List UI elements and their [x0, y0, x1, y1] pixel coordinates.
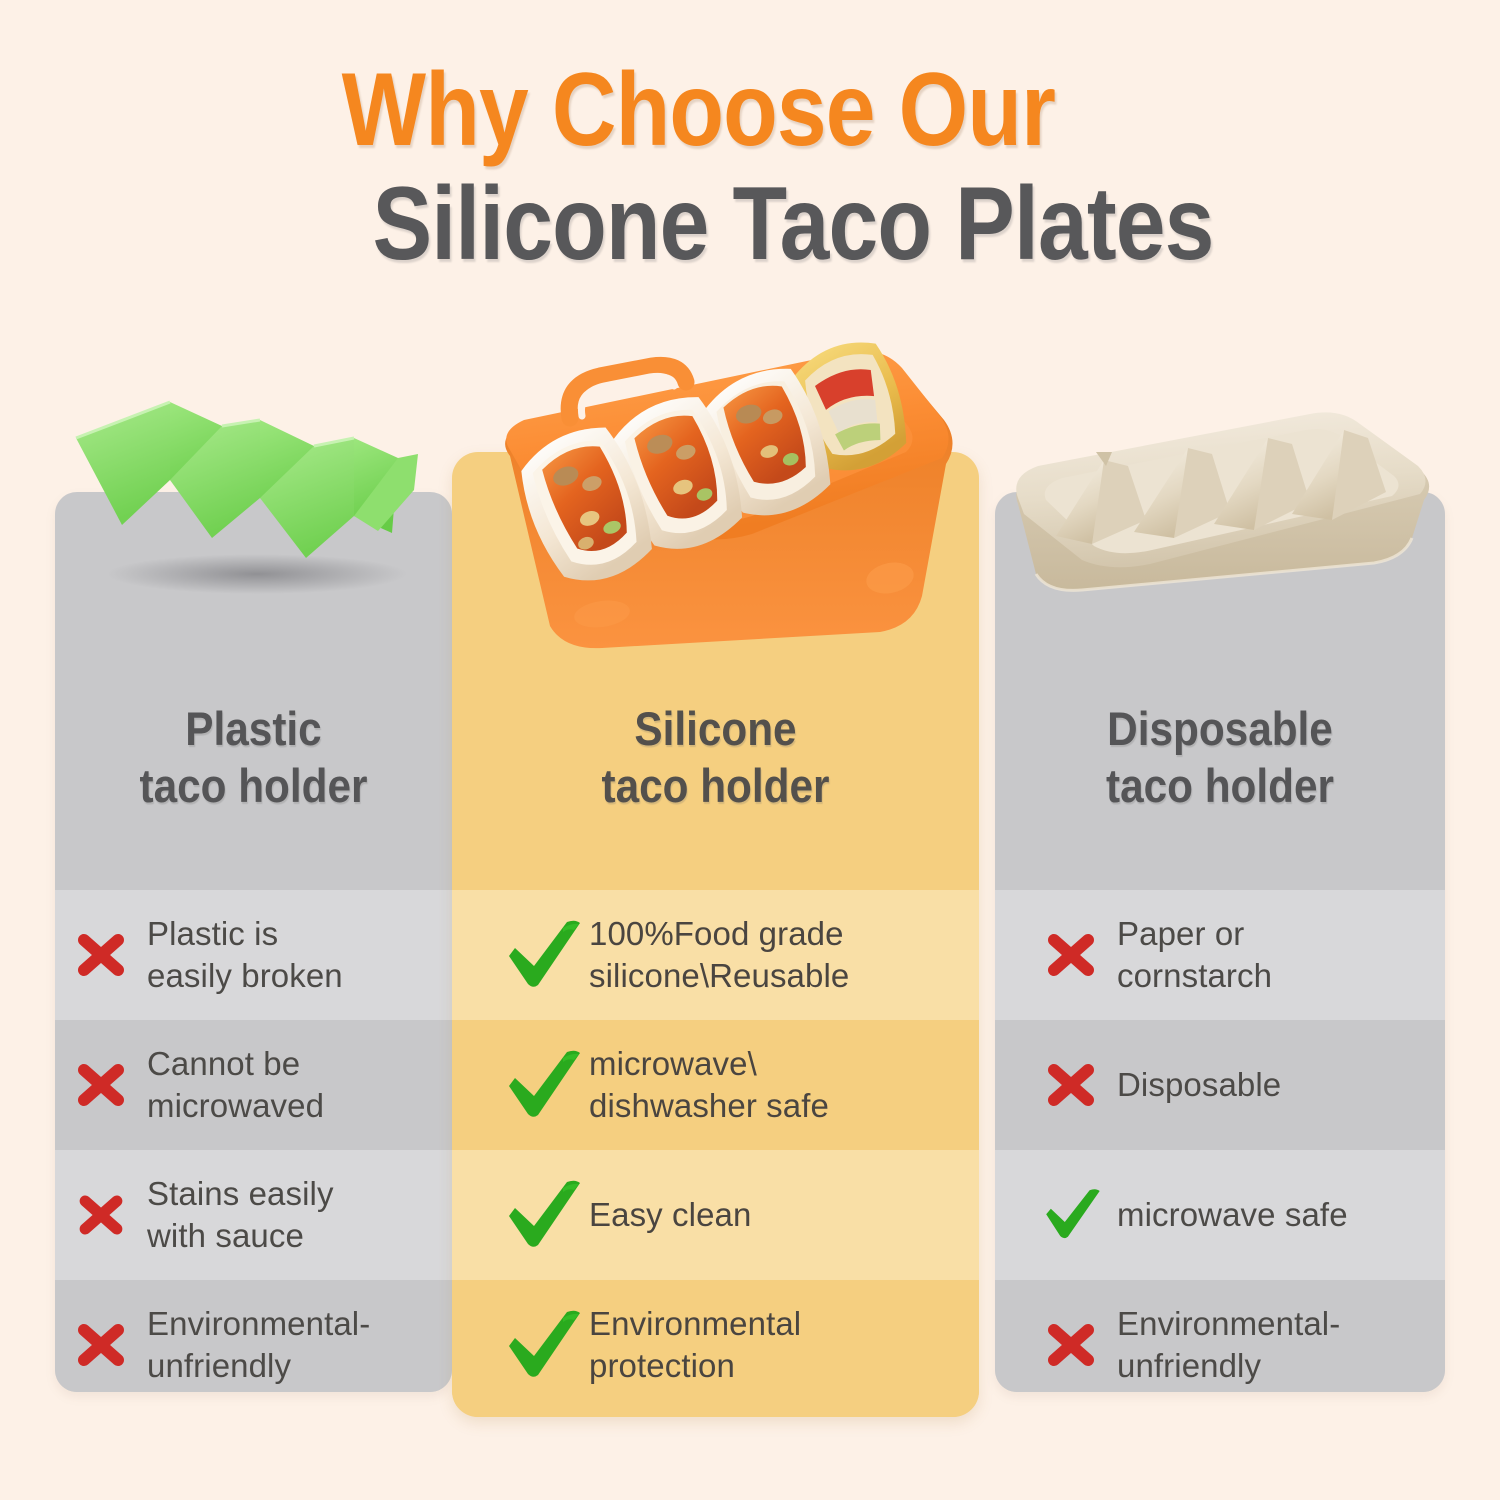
feature-text: Plastic is easily broken	[147, 913, 343, 997]
feature-row: Cannot be microwaved	[55, 1020, 452, 1150]
feature-row: Environmental- unfriendly	[55, 1280, 452, 1392]
feature-row: Stains easily with sauce	[55, 1150, 452, 1280]
feature-row: Environmental protection	[452, 1280, 979, 1410]
feature-row: Environmental- unfriendly	[995, 1280, 1445, 1392]
green-plastic-zigzag-taco-holder	[62, 398, 432, 603]
column-plastic: Plastic taco holder Plastic is easily br…	[55, 492, 452, 1392]
feature-text: Stains easily with sauce	[147, 1173, 334, 1257]
cross-icon	[55, 1057, 147, 1113]
column-title-plastic: Plastic taco holder	[75, 700, 432, 815]
feature-text: Cannot be microwaved	[147, 1043, 324, 1127]
feature-text: Disposable	[1117, 1064, 1281, 1106]
feature-text: Paper or cornstarch	[1117, 913, 1272, 997]
page-title-line1: Why Choose Our	[53, 58, 1343, 162]
feature-list-disposable: Paper or cornstarch Disposable	[995, 890, 1445, 1392]
page-title: Why Choose Our Silicone Taco Plates	[0, 58, 1500, 276]
feature-row: Easy clean	[452, 1150, 979, 1280]
check-icon	[1025, 1186, 1117, 1244]
cross-icon	[55, 927, 147, 983]
feature-text: Easy clean	[589, 1194, 751, 1236]
feature-list-plastic: Plastic is easily broken Cannot be micro…	[55, 890, 452, 1392]
check-icon	[497, 1178, 589, 1252]
feature-row: microwave\ dishwasher safe	[452, 1020, 979, 1150]
feature-row: Disposable	[995, 1020, 1445, 1150]
feature-text: microwave safe	[1117, 1194, 1348, 1236]
check-icon	[497, 1048, 589, 1122]
orange-silicone-taco-tray-with-tacos	[452, 338, 982, 678]
feature-text: Environmental- unfriendly	[1117, 1303, 1340, 1387]
cross-icon	[55, 1189, 147, 1241]
feature-text: Environmental protection	[589, 1303, 801, 1387]
comparison-infographic: Why Choose Our Silicone Taco Plates Plas…	[0, 0, 1500, 1500]
cross-icon	[55, 1317, 147, 1373]
column-disposable: Disposable taco holder Paper or cornstar…	[995, 492, 1445, 1392]
check-icon	[497, 1308, 589, 1382]
page-title-line2: Silicone Taco Plates	[148, 172, 1438, 276]
feature-row: Paper or cornstarch	[995, 890, 1445, 1020]
feature-row: microwave safe	[995, 1150, 1445, 1280]
cross-icon	[1025, 927, 1117, 983]
feature-row: 100%Food grade silicone\Reusable	[452, 890, 979, 1020]
cross-icon	[1025, 1317, 1117, 1373]
feature-list-silicone: 100%Food grade silicone\Reusable microwa…	[452, 890, 979, 1410]
feature-row: Plastic is easily broken	[55, 890, 452, 1020]
cross-icon	[1025, 1057, 1117, 1113]
feature-text: 100%Food grade silicone\Reusable	[589, 913, 849, 997]
check-icon	[497, 918, 589, 992]
column-title-silicone: Silicone taco holder	[478, 700, 952, 815]
feature-text: microwave\ dishwasher safe	[589, 1043, 829, 1127]
column-title-disposable: Disposable taco holder	[1018, 700, 1423, 815]
feature-text: Environmental- unfriendly	[147, 1303, 370, 1387]
beige-molded-pulp-disposable-taco-tray	[1000, 408, 1440, 613]
